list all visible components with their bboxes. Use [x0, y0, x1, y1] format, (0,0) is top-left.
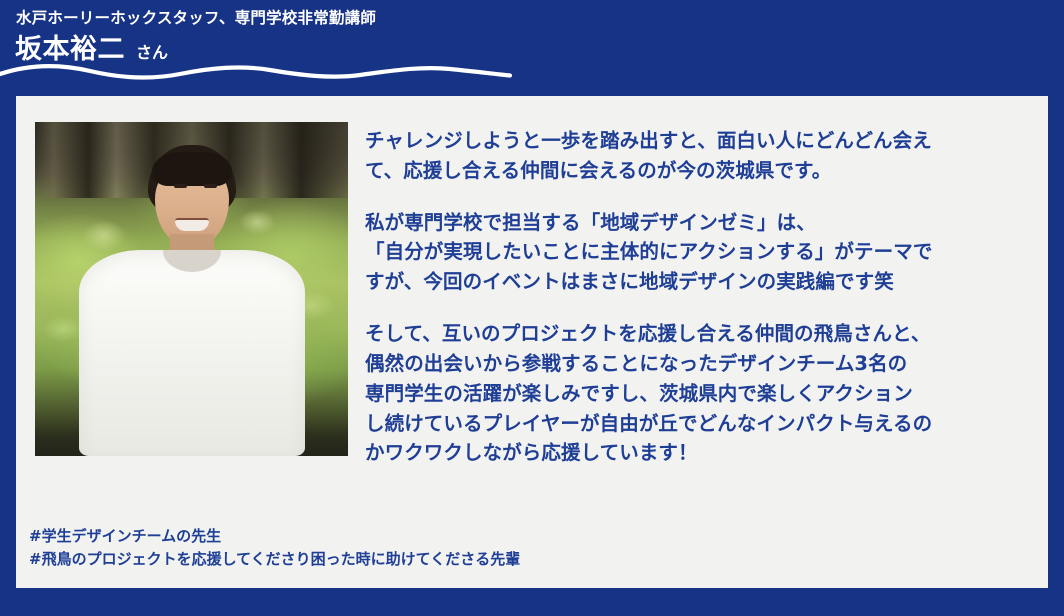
- message-body: チャレンジしようと一歩を踏み出すと、面白い人にどんどん会え て、応援し合える仲間…: [365, 126, 1035, 468]
- profile-photo: [35, 122, 348, 456]
- header-band: 水戸ホーリーホックスタッフ、専門学校非常勤講師 坂本裕二 さん: [0, 0, 1064, 96]
- hashtag-item[interactable]: #学生デザインチームの先生: [29, 525, 520, 548]
- content-card: チャレンジしようと一歩を踏み出すと、面白い人にどんどん会え て、応援し合える仲間…: [16, 96, 1048, 588]
- person-honorific: さん: [136, 44, 168, 62]
- message-paragraph-3: そして、互いのプロジェクトを応援し合える仲間の飛鳥さんと、 偶然の出会いから参戦…: [365, 319, 1035, 468]
- message-paragraph-1: チャレンジしようと一歩を踏み出すと、面白い人にどんどん会え て、応援し合える仲間…: [365, 126, 1035, 186]
- hashtag-list: #学生デザインチームの先生 #飛鳥のプロジェクトを応援してくださり困った時に助け…: [29, 525, 520, 572]
- photo-person-shirt: [79, 250, 305, 456]
- header-role-label: 水戸ホーリーホックスタッフ、専門学校非常勤講師: [16, 9, 376, 28]
- photo-person-smile: [175, 218, 209, 231]
- hashtag-item[interactable]: #飛鳥のプロジェクトを応援してくださり困った時に助けてくださる先輩: [29, 548, 520, 571]
- profile-card-page: 水戸ホーリーホックスタッフ、専門学校非常勤講師 坂本裕二 さん: [0, 0, 1064, 616]
- header-name-line: 坂本裕二 さん: [15, 35, 168, 65]
- photo-person-fringe: [152, 152, 232, 186]
- person-name: 坂本裕二: [15, 35, 125, 65]
- photo-person-eye-left: [174, 184, 187, 188]
- photo-person-eye-right: [204, 184, 217, 188]
- message-paragraph-2: 私が専門学校で担当する「地域デザインゼミ」は、 「自分が実現したいことに主体的に…: [365, 208, 1035, 297]
